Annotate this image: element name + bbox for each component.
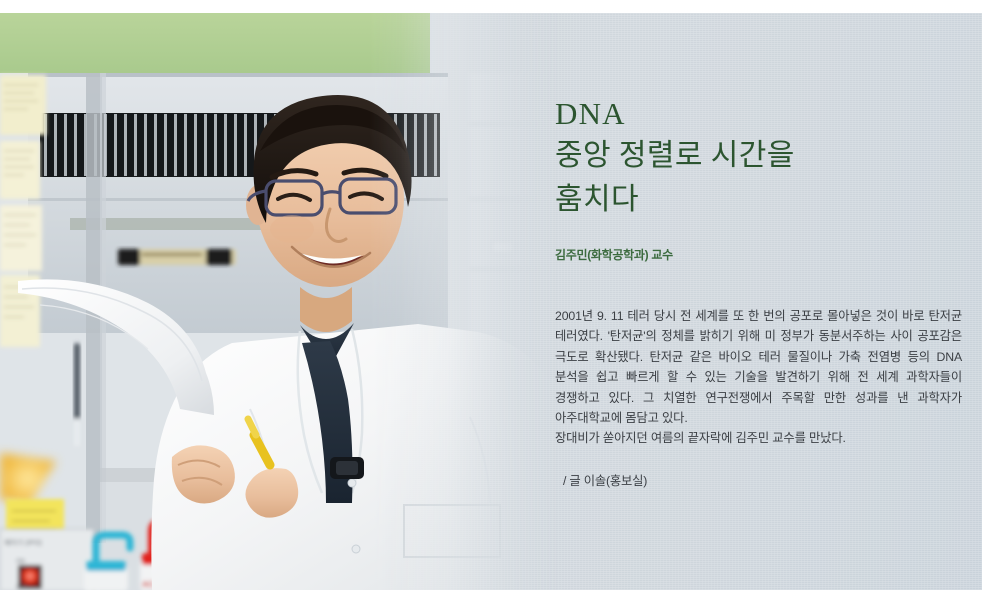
bottom-margin xyxy=(0,590,982,598)
body-paragraph: 2001년 9. 11 테러 당시 전 세계를 또 한 번의 공포로 몰아넣은 … xyxy=(555,309,962,425)
control-panel: 제어기 (IPO) ON OFF xyxy=(0,529,94,590)
article-body: 2001년 9. 11 테러 당시 전 세계를 또 한 번의 공포로 몰아넣은 … xyxy=(555,263,962,449)
headline-line-en: DNA xyxy=(555,13,965,134)
writer-credit: / 글 이솔(홍보실) xyxy=(555,449,965,489)
body-last-line: 장대비가 쏟아지던 여름의 끝자락에 김주민 교수를 만났다. xyxy=(555,431,846,445)
svg-text:ON: ON xyxy=(16,559,25,565)
professor-photo: 제어기 (IPO) ON OFF ACETONE xyxy=(0,13,560,590)
headline-line-ko1: 중앙 정렬로 시간을 xyxy=(555,134,965,178)
pen-behind xyxy=(74,343,80,448)
page-title: DNA 중앙 정렬로 시간을 훔치다 xyxy=(555,13,965,222)
bench-instrument xyxy=(118,249,236,265)
top-margin xyxy=(0,0,982,13)
posted-notes xyxy=(0,75,46,347)
headline-line-ko2: 훔치다 xyxy=(555,178,965,222)
byline: 김주민(화학공학과) 교수 xyxy=(555,222,965,263)
text-column: DNA 중앙 정렬로 시간을 훔치다 김주민(화학공학과) 교수 2001년 9… xyxy=(555,13,965,489)
article-banner: 제어기 (IPO) ON OFF ACETONE xyxy=(0,0,982,598)
photo-illustration: 제어기 (IPO) ON OFF ACETONE xyxy=(0,13,560,590)
wristwatch xyxy=(330,457,364,479)
svg-text:제어기 (IPO): 제어기 (IPO) xyxy=(4,538,42,547)
